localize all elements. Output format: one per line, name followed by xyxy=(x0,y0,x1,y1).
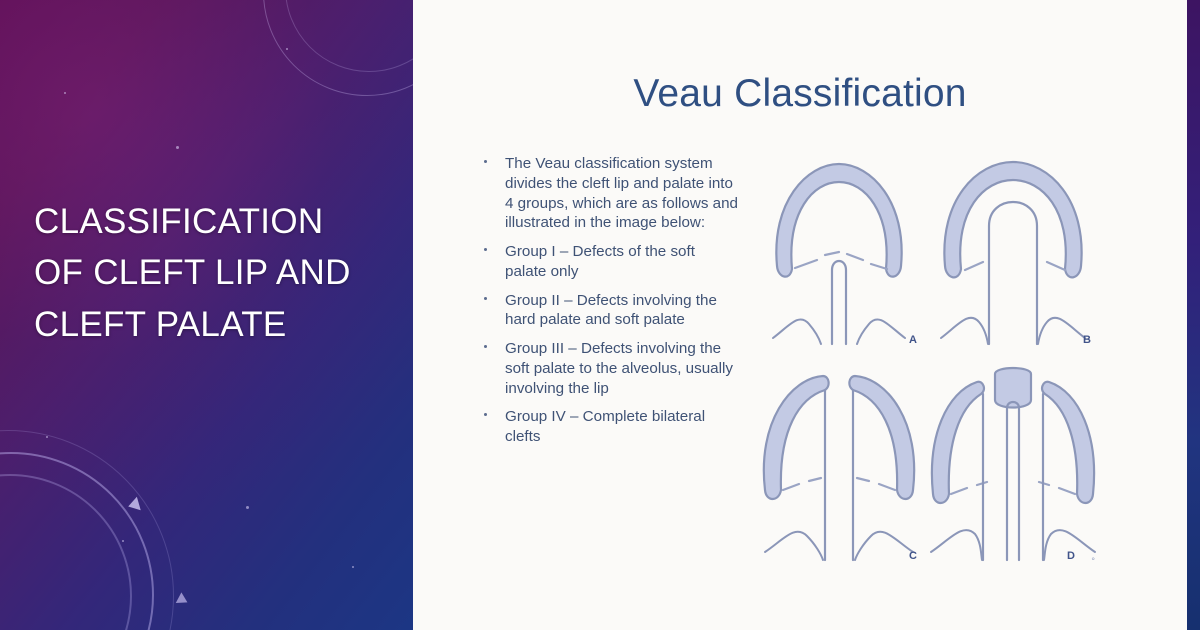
figure-source-mark: ° xyxy=(1091,556,1095,566)
bullet-dot-icon xyxy=(484,345,487,348)
list-item: Group II – Defects involving the hard pa… xyxy=(476,291,740,331)
content-card-inner: Veau Classification The Veau classificat… xyxy=(413,0,1187,630)
lip-contour-left xyxy=(765,532,823,560)
alveolar-segment-right xyxy=(849,376,914,499)
list-item: The Veau classification system divides t… xyxy=(476,154,740,233)
lip-contour-right xyxy=(855,532,913,560)
bullet-list: The Veau classification system divides t… xyxy=(476,154,740,447)
figure-grid: A B xyxy=(743,140,1163,570)
title-panel: CLASSIFICATION OF CLEFT LIP AND CLEFT PA… xyxy=(0,0,413,630)
list-item-label: Group II – Defects involving the hard pa… xyxy=(505,291,740,331)
lip-contour-left xyxy=(931,530,982,560)
list-item: Group I – Defects of the soft palate onl… xyxy=(476,242,740,282)
alveolar-segment-left xyxy=(764,376,829,499)
hard-palate-dashed-line xyxy=(965,262,1065,270)
page-title-line-2: OF CLEFT LIP AND xyxy=(34,247,394,298)
lip-contour-left xyxy=(941,318,988,344)
bullet-dot-icon xyxy=(484,248,487,251)
hard-palate-dashed-line xyxy=(783,478,895,490)
figure-label-b: B xyxy=(1083,334,1091,346)
list-item-label: Group III – Defects involving the soft p… xyxy=(505,339,740,398)
alveolar-arch-shape xyxy=(944,162,1081,277)
content-heading: Veau Classification xyxy=(413,72,1187,116)
figure-label-a: A xyxy=(909,334,917,346)
bullet-dot-icon xyxy=(484,160,487,163)
soft-palate-cleft xyxy=(832,261,846,344)
figure-a: A xyxy=(751,148,927,348)
figure-label-d: D xyxy=(1067,550,1075,562)
figure-d: D ° xyxy=(925,364,1101,564)
alveolar-arch-shape xyxy=(776,164,901,277)
list-item-label: Group I – Defects of the soft palate onl… xyxy=(505,242,740,282)
figure-label-c: C xyxy=(909,550,917,562)
list-item-label: The Veau classification system divides t… xyxy=(505,154,740,233)
page-title-line-1: CLASSIFICATION xyxy=(34,196,394,247)
content-card: Veau Classification The Veau classificat… xyxy=(413,0,1187,630)
lip-contour-right xyxy=(1038,318,1085,344)
bullet-dot-icon xyxy=(484,413,487,416)
page-title-line-3: CLEFT PALATE xyxy=(34,299,394,350)
lip-contour-right xyxy=(857,319,905,344)
figure-b: B xyxy=(925,148,1101,348)
bullet-dot-icon xyxy=(484,297,487,300)
hard-palate-dashed-line xyxy=(951,482,1075,494)
page-title: CLASSIFICATION OF CLEFT LIP AND CLEFT PA… xyxy=(34,196,394,350)
right-edge-strip xyxy=(1187,0,1200,630)
list-item: Group III – Defects involving the soft p… xyxy=(476,339,740,398)
vomer-strip xyxy=(1007,402,1019,560)
lip-contour-left xyxy=(773,319,821,344)
figure-c: C xyxy=(751,364,927,564)
list-item-label: Group IV – Complete bilateral clefts xyxy=(505,407,740,447)
list-item: Group IV – Complete bilateral clefts xyxy=(476,407,740,447)
slide: CLASSIFICATION OF CLEFT LIP AND CLEFT PA… xyxy=(0,0,1200,630)
hard-soft-palate-cleft xyxy=(989,202,1037,344)
